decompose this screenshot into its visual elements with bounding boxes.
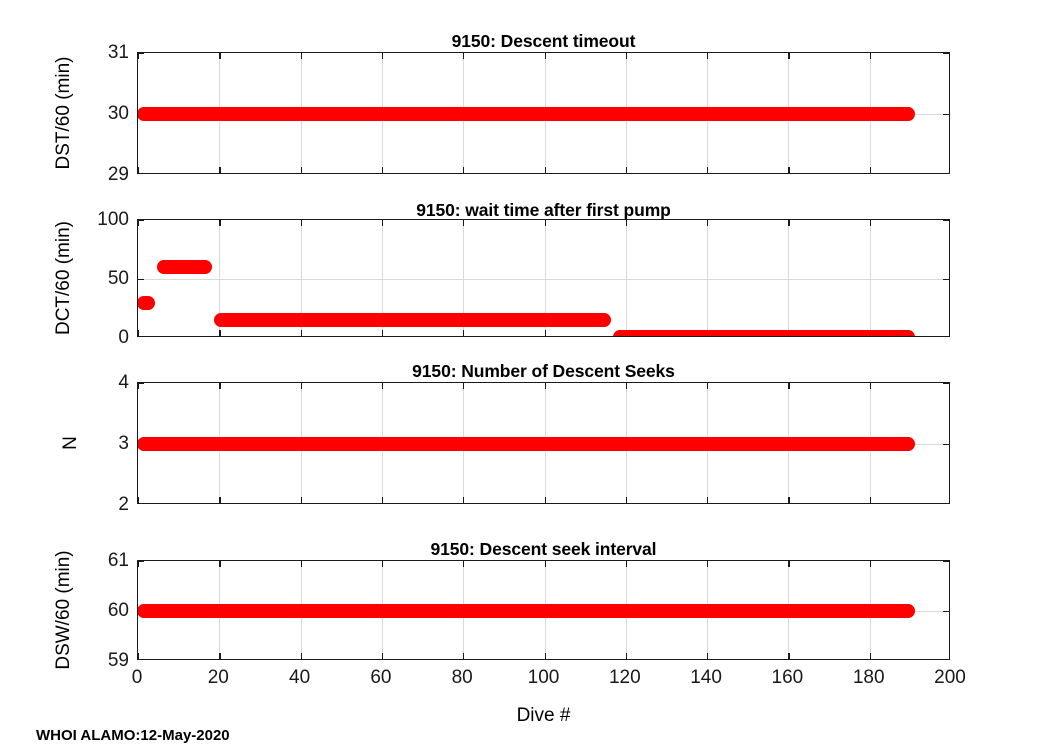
x-tick-mark xyxy=(626,53,627,59)
y-tick-mark xyxy=(138,383,144,384)
x-tick-mark xyxy=(463,497,464,503)
x-gridline xyxy=(626,220,627,336)
plot-axes xyxy=(137,382,950,504)
x-tick-label: 0 xyxy=(97,668,177,687)
x-gridline xyxy=(707,220,708,336)
x-tick-mark xyxy=(626,383,627,389)
y-tick-mark xyxy=(943,561,949,562)
x-tick-label: 100 xyxy=(504,668,584,687)
y-tick-label: 31 xyxy=(73,43,129,62)
x-tick-mark xyxy=(382,561,383,567)
data-series-marker-band xyxy=(614,330,915,336)
x-tick-label: 160 xyxy=(747,668,827,687)
y-tick-mark xyxy=(943,383,949,384)
x-tick-mark xyxy=(788,653,789,659)
x-tick-label: 180 xyxy=(829,668,909,687)
y-tick-label: 29 xyxy=(73,165,129,184)
x-tick-mark xyxy=(463,167,464,173)
y-axis-label: N xyxy=(60,353,82,533)
y-tick-label: 50 xyxy=(73,269,129,288)
x-tick-mark xyxy=(707,653,708,659)
x-tick-label: 80 xyxy=(422,668,502,687)
y-axis-label: DSW/60 (min) xyxy=(53,520,75,700)
x-tick-mark xyxy=(545,220,546,226)
x-tick-mark xyxy=(382,167,383,173)
x-tick-label: 60 xyxy=(341,668,421,687)
x-tick-mark xyxy=(545,330,546,336)
y-tick-mark xyxy=(138,561,144,562)
x-tick-mark xyxy=(545,653,546,659)
y-tick-mark xyxy=(943,611,949,612)
x-tick-mark xyxy=(219,653,220,659)
data-series-marker-band xyxy=(215,313,609,327)
x-tick-mark xyxy=(788,220,789,226)
x-tick-mark xyxy=(382,330,383,336)
chart-title: 9150: Number of Descent Seeks xyxy=(137,361,950,382)
x-tick-mark xyxy=(545,53,546,59)
x-tick-mark xyxy=(219,561,220,567)
x-tick-label: 40 xyxy=(260,668,340,687)
x-tick-mark xyxy=(463,653,464,659)
x-gridline xyxy=(870,220,871,336)
x-tick-mark xyxy=(788,383,789,389)
x-tick-mark xyxy=(707,561,708,567)
x-tick-mark xyxy=(626,653,627,659)
y-axis-label: DCT/60 (min) xyxy=(53,188,75,368)
x-tick-mark xyxy=(301,497,302,503)
x-tick-mark xyxy=(463,220,464,226)
x-tick-mark xyxy=(788,167,789,173)
x-tick-mark xyxy=(707,497,708,503)
plot-area xyxy=(138,561,949,659)
x-tick-mark xyxy=(219,497,220,503)
x-tick-mark xyxy=(788,497,789,503)
x-tick-mark xyxy=(219,330,220,336)
x-tick-mark xyxy=(870,383,871,389)
x-tick-mark xyxy=(870,561,871,567)
data-series-marker-band xyxy=(138,604,914,618)
x-tick-mark xyxy=(707,220,708,226)
y-axis-label: DST/60 (min) xyxy=(53,23,75,203)
x-tick-mark xyxy=(219,53,220,59)
x-tick-mark xyxy=(707,167,708,173)
x-axis-label: Dive # xyxy=(137,705,950,727)
x-tick-mark xyxy=(301,220,302,226)
x-tick-mark xyxy=(707,53,708,59)
x-tick-mark xyxy=(870,497,871,503)
plot-axes xyxy=(137,52,950,174)
chart-title: 9150: wait time after first pump xyxy=(137,200,950,221)
data-series-marker-band xyxy=(158,260,211,274)
x-tick-mark xyxy=(870,653,871,659)
x-tick-mark xyxy=(626,497,627,503)
plot-axes xyxy=(137,560,950,660)
plot-area xyxy=(138,53,949,173)
x-tick-mark xyxy=(301,561,302,567)
data-series-marker-band xyxy=(138,107,914,121)
x-tick-mark xyxy=(219,383,220,389)
y-tick-mark xyxy=(138,220,144,221)
x-tick-label: 200 xyxy=(910,668,990,687)
plot-axes xyxy=(137,219,950,337)
x-tick-mark xyxy=(301,167,302,173)
x-tick-mark xyxy=(463,561,464,567)
y-gridline xyxy=(138,279,949,280)
y-tick-mark xyxy=(943,53,949,54)
figure-canvas: 9150: Descent timeout293031DST/60 (min)9… xyxy=(0,0,1050,750)
plot-area xyxy=(138,220,949,336)
x-tick-mark xyxy=(870,220,871,226)
x-tick-mark xyxy=(545,497,546,503)
y-tick-label: 60 xyxy=(73,601,129,620)
y-tick-mark xyxy=(943,114,949,115)
x-tick-mark xyxy=(382,383,383,389)
x-tick-mark xyxy=(626,220,627,226)
x-tick-mark xyxy=(707,383,708,389)
x-tick-mark xyxy=(301,653,302,659)
data-series-marker-band xyxy=(138,437,914,451)
x-tick-mark xyxy=(545,561,546,567)
x-tick-mark xyxy=(301,53,302,59)
x-tick-mark xyxy=(870,53,871,59)
y-tick-label: 0 xyxy=(73,328,129,347)
chart-title: 9150: Descent timeout xyxy=(137,31,950,52)
y-tick-label: 61 xyxy=(73,551,129,570)
y-tick-mark xyxy=(138,279,144,280)
x-tick-mark xyxy=(463,53,464,59)
y-tick-mark xyxy=(943,279,949,280)
x-tick-mark xyxy=(545,383,546,389)
y-tick-mark xyxy=(943,220,949,221)
x-tick-mark xyxy=(463,383,464,389)
x-tick-mark xyxy=(301,383,302,389)
x-tick-label: 120 xyxy=(585,668,665,687)
x-tick-mark xyxy=(382,220,383,226)
x-tick-label: 140 xyxy=(666,668,746,687)
x-tick-mark xyxy=(788,53,789,59)
x-gridline xyxy=(788,220,789,336)
x-tick-mark xyxy=(382,653,383,659)
y-tick-mark xyxy=(138,53,144,54)
x-tick-mark xyxy=(301,330,302,336)
x-tick-mark xyxy=(463,330,464,336)
x-tick-mark xyxy=(382,497,383,503)
y-tick-label: 100 xyxy=(73,210,129,229)
x-tick-mark xyxy=(219,220,220,226)
x-tick-mark xyxy=(382,53,383,59)
x-tick-mark xyxy=(870,167,871,173)
x-tick-label: 20 xyxy=(178,668,258,687)
chart-title: 9150: Descent seek interval xyxy=(137,539,950,560)
x-tick-mark xyxy=(219,167,220,173)
y-tick-mark xyxy=(943,444,949,445)
y-tick-label: 30 xyxy=(73,104,129,123)
plot-area xyxy=(138,383,949,503)
x-tick-mark xyxy=(788,561,789,567)
x-tick-mark xyxy=(626,167,627,173)
data-series-marker-band xyxy=(138,296,154,310)
x-tick-mark xyxy=(545,167,546,173)
footer-stamp: WHOI ALAMO:12-May-2020 xyxy=(36,727,230,744)
x-tick-mark xyxy=(626,561,627,567)
